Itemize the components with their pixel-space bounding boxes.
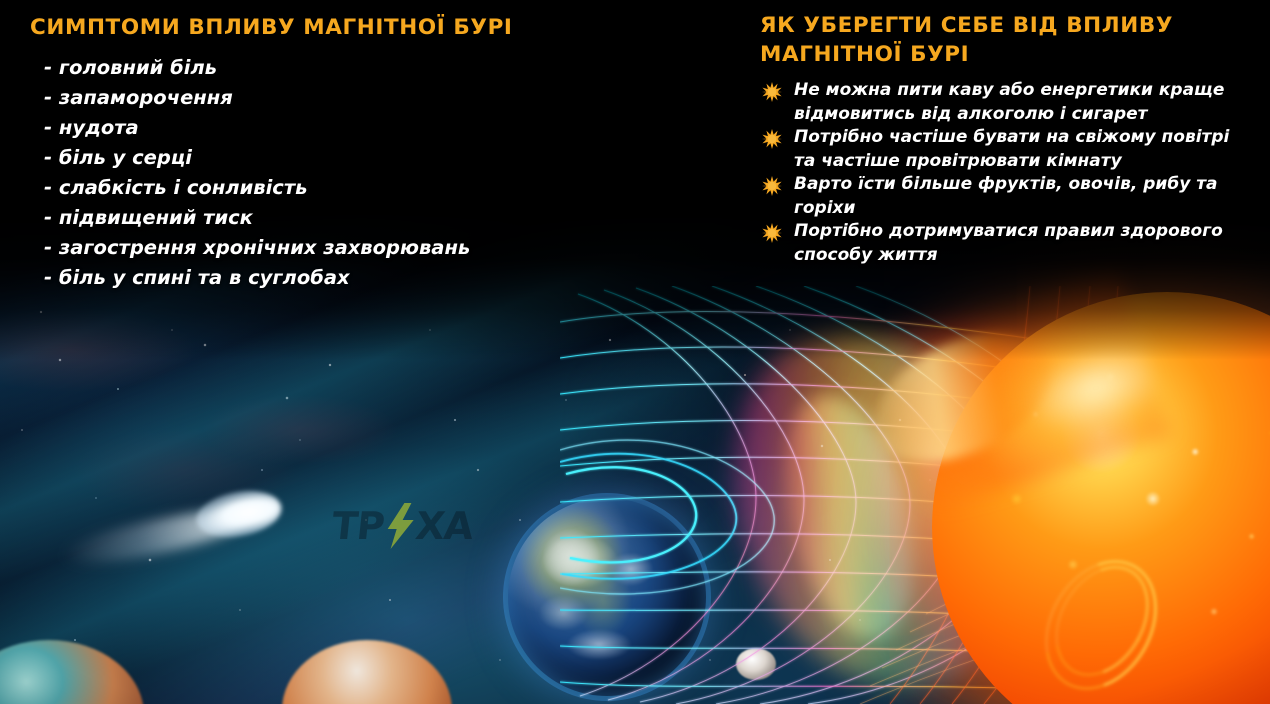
- prevention-panel: ЯК УБЕРЕГТИ СЕБЕ ВІД ВПЛИВУ МАГНІТНОЇ БУ…: [760, 12, 1250, 267]
- list-item: - слабкість і сонливість: [30, 173, 670, 203]
- list-item: Не можна пити каву або енергетики краще …: [760, 79, 1250, 126]
- list-item: - підвищений тиск: [30, 203, 670, 233]
- list-item: Потрібно частіше бувати на свіжому повіт…: [760, 126, 1250, 173]
- symptoms-heading: СИМПТОМИ ВПЛИВУ МАГНІТНОЇ БУРІ: [30, 14, 670, 43]
- list-item-label: Потрібно частіше бувати на свіжому повіт…: [794, 127, 1229, 171]
- prevention-list: Не можна пити каву або енергетики краще …: [760, 79, 1250, 267]
- list-item-label: Варто їсти більше фруктів, овочів, рибу …: [794, 174, 1218, 218]
- list-item: Портібно дотримуватися правил здорового …: [760, 220, 1250, 267]
- symptoms-panel: СИМПТОМИ ВПЛИВУ МАГНІТНОЇ БУРІ - головни…: [30, 14, 670, 293]
- list-item-label: Не можна пити каву або енергетики краще …: [794, 80, 1224, 124]
- list-item: - нудота: [30, 113, 670, 143]
- list-item: Варто їсти більше фруктів, овочів, рибу …: [760, 173, 1250, 220]
- list-item: - запаморочення: [30, 83, 670, 113]
- prevention-heading: ЯК УБЕРЕГТИ СЕБЕ ВІД ВПЛИВУ МАГНІТНОЇ БУ…: [760, 12, 1250, 69]
- list-item: - біль у серці: [30, 143, 670, 173]
- sun-star-icon: [762, 129, 782, 149]
- list-item: - головний біль: [30, 53, 670, 83]
- infographic-canvas: ТР ХА СИМПТОМИ ВПЛИВУ МАГНІТНОЇ БУРІ - г…: [0, 0, 1270, 704]
- sun-star-icon: [762, 223, 782, 243]
- list-item: - загострення хронічних захворювань: [30, 233, 670, 263]
- symptoms-list: - головний біль - запаморочення - нудота…: [30, 53, 670, 293]
- sun-star-icon: [762, 82, 782, 102]
- list-item: - біль у спині та в суглобах: [30, 263, 670, 293]
- list-item-label: Портібно дотримуватися правил здорового …: [794, 221, 1223, 265]
- sun-star-icon: [762, 176, 782, 196]
